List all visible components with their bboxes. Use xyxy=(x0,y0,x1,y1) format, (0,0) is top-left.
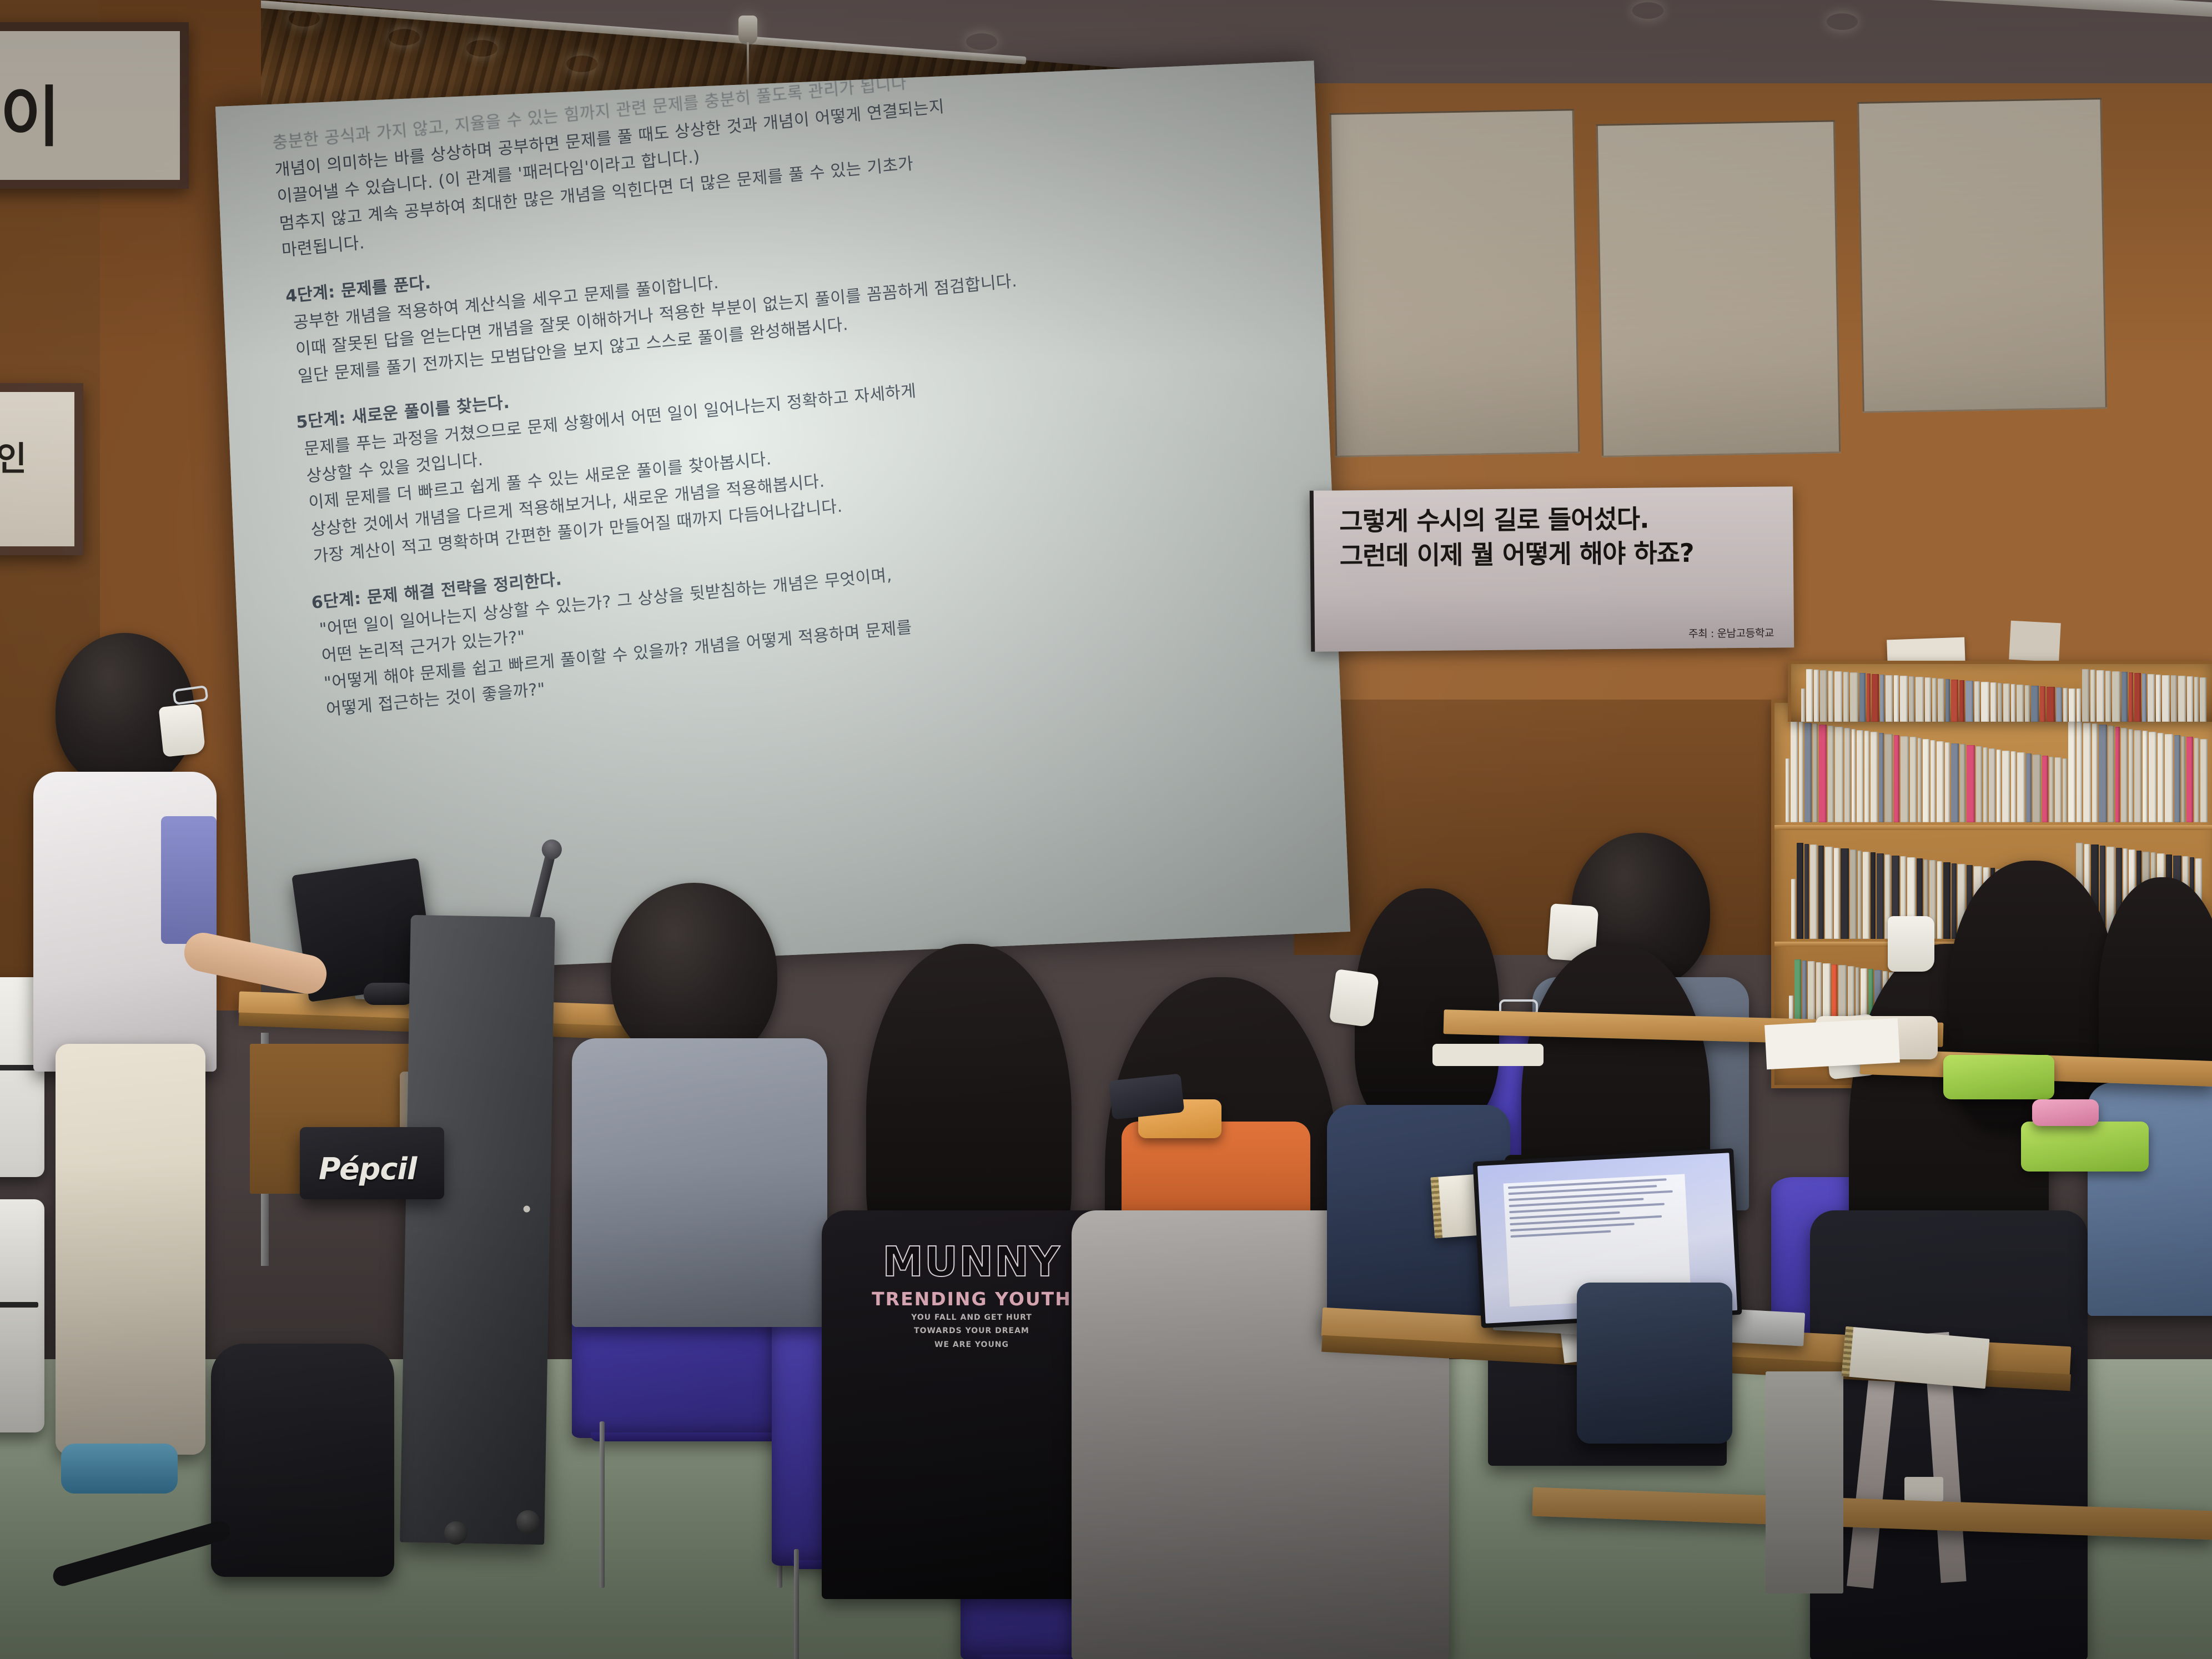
book-spine xyxy=(2092,723,2098,822)
book-spine xyxy=(1959,680,1964,722)
book-spine xyxy=(1850,849,1856,939)
downlight-icon xyxy=(966,33,997,50)
book-spine xyxy=(2186,737,2193,822)
book-spine xyxy=(2077,688,2081,722)
backpack xyxy=(211,1344,394,1577)
student-torso xyxy=(2088,1083,2212,1316)
equipment-bag: Pépcil xyxy=(300,1127,444,1199)
book-spine xyxy=(2025,685,2030,722)
projection-screen: 충분한 공식과 가지 않고, 지율을 수 있는 힘까지 관련 문제를 충분히 풀… xyxy=(215,61,1350,978)
book-spine xyxy=(1983,747,1987,822)
book-spine xyxy=(2090,670,2095,722)
book-spine xyxy=(2068,721,2075,822)
framed-calligraphy-small: 인 xyxy=(0,383,83,555)
book-spine xyxy=(1880,675,1884,722)
book-spine xyxy=(2002,751,2009,823)
slide-text-body: 충분한 공식과 가지 않고, 지율을 수 있는 힘까지 관련 문제를 충분히 풀… xyxy=(272,61,1324,669)
book-spine xyxy=(2108,726,2114,822)
book-spine xyxy=(1825,847,1833,939)
book-spine xyxy=(2099,725,2107,822)
book-spine xyxy=(2112,671,2120,722)
book-spine xyxy=(1867,673,1871,722)
book-spine xyxy=(1806,669,1813,722)
book-spine xyxy=(2031,686,2039,722)
downlight-icon xyxy=(389,29,420,46)
book-spine xyxy=(2200,739,2208,822)
book-spine xyxy=(1810,844,1817,939)
pencil-case-pink[interactable] xyxy=(2032,1099,2099,1126)
book-spine xyxy=(2049,757,2053,822)
book-spine xyxy=(2165,734,2173,822)
rolling-podium-panel xyxy=(400,915,555,1545)
paper-strip xyxy=(1432,1044,1544,1066)
book-spine xyxy=(1819,725,1827,822)
downlight-icon xyxy=(289,10,320,27)
student-face-mask xyxy=(1888,916,1934,972)
book-spine xyxy=(1885,734,1893,822)
banner-host-credit: 주최 : 운남고등학교 xyxy=(1688,625,1774,641)
book-spine xyxy=(1791,879,1796,939)
book-spine xyxy=(2121,728,2128,822)
book-spine xyxy=(2194,677,2198,722)
book-spine xyxy=(1872,674,1878,722)
book-spine xyxy=(1801,688,1805,722)
book-spine xyxy=(1918,738,1922,822)
book-spine xyxy=(2162,675,2170,722)
book-spine xyxy=(1976,746,1982,822)
book-spine xyxy=(1894,735,1899,822)
book-spine xyxy=(2003,683,2010,722)
calligraphy-character-small: 인 xyxy=(0,432,27,480)
book-spine xyxy=(1951,743,1959,822)
podium-caster xyxy=(516,1510,540,1534)
book-spine xyxy=(2134,730,2141,823)
book-spine xyxy=(1990,682,1997,722)
book-spine xyxy=(1901,736,1909,822)
desk-divider-panel xyxy=(1766,1371,1843,1593)
book-spine xyxy=(2187,676,2193,722)
wall-panel xyxy=(1330,109,1580,458)
book-row xyxy=(1786,720,2208,822)
book-spine xyxy=(1857,730,1863,823)
book-spine xyxy=(1997,750,2001,822)
book-spine xyxy=(2148,674,2155,722)
downlight-icon xyxy=(466,40,497,57)
book-spine xyxy=(1910,737,1916,822)
book-spine xyxy=(1864,731,1869,822)
book-spine xyxy=(1863,852,1869,939)
paper-sheet[interactable] xyxy=(1764,1018,1900,1069)
book-spine xyxy=(1791,721,1797,822)
book-spine xyxy=(1998,683,2002,722)
book-spine xyxy=(2040,686,2045,722)
book-spine xyxy=(1799,722,1803,822)
book-spine xyxy=(2011,751,2016,822)
equipment-bag-label: Pépcil xyxy=(319,1152,416,1187)
book-spine xyxy=(1900,676,1908,722)
pencil-case-green[interactable] xyxy=(1943,1055,2054,1099)
book-spine xyxy=(1814,670,1818,722)
book-spine xyxy=(1974,681,1980,722)
book-spine xyxy=(2121,672,2128,722)
book-spine xyxy=(1965,681,1973,722)
book-spine xyxy=(1937,861,1942,939)
book-spine xyxy=(2129,729,2133,822)
student-hair xyxy=(1355,888,1499,1127)
desk-bag xyxy=(1577,1283,1732,1444)
presenter-face-mask xyxy=(159,703,206,757)
book-spine xyxy=(2178,676,2186,722)
book-spine xyxy=(2011,684,2015,722)
book-spine xyxy=(1843,672,1849,722)
book-spine xyxy=(1841,848,1849,939)
book-spine xyxy=(1852,729,1856,822)
book-spine xyxy=(1844,728,1851,822)
book-spine xyxy=(1951,680,1958,722)
book-spine xyxy=(2047,687,2055,722)
shelf xyxy=(1774,825,2212,830)
book-spine xyxy=(2033,755,2041,822)
book-spine xyxy=(2171,675,2176,722)
book-spine xyxy=(1804,844,1809,939)
presenter-legs xyxy=(56,1044,205,1455)
classroom-scene: 이 인 충분한 공식과 가지 않고, 지율을 수 있는 힘까지 관련 문제를 충… xyxy=(0,0,2212,1659)
name-tag xyxy=(1904,1477,1943,1501)
book-spine xyxy=(1923,739,1929,822)
book-spine xyxy=(1871,732,1878,822)
book-spine xyxy=(2069,688,2075,722)
book-spine xyxy=(1804,723,1812,822)
book-spine xyxy=(2181,736,2185,822)
smartphone[interactable] xyxy=(1109,1073,1185,1119)
book-spine xyxy=(1931,740,1935,822)
book-spine xyxy=(2143,731,2148,822)
book-spine xyxy=(1909,676,1914,722)
book-spine xyxy=(2017,752,2025,822)
banner-line-2: 그런데 이제 뭘 어떻게 해야 하죠? xyxy=(1340,535,1775,573)
book-spine xyxy=(2156,675,2161,722)
book-spine xyxy=(2063,688,2067,722)
book-spine xyxy=(1938,678,1944,722)
book-spine xyxy=(1871,852,1875,939)
book-spine xyxy=(1943,862,1950,939)
downlight-icon xyxy=(566,56,597,72)
book-spine xyxy=(2055,757,2062,822)
book-spine xyxy=(2200,677,2206,722)
book-spine xyxy=(2082,669,2089,722)
student-face-mask xyxy=(1329,969,1380,1028)
book-spine xyxy=(2105,671,2111,722)
book-spine xyxy=(1820,670,1827,722)
book-spine xyxy=(1925,677,1931,722)
downlight-icon xyxy=(1827,13,1858,30)
wall-banner: 그렇게 수시의 길로 들어섰다. 그런데 이제 뭘 어떻게 해야 하죠? 주최 … xyxy=(1310,486,1794,652)
book-spine xyxy=(2097,670,2104,722)
book-spine xyxy=(1858,851,1862,939)
book-spine xyxy=(2056,687,2062,722)
book-spine xyxy=(2129,672,2133,722)
book-spine xyxy=(1818,846,1823,939)
book-spine xyxy=(2077,722,2082,822)
calligraphy-character: 이 xyxy=(0,64,61,159)
book-spine xyxy=(1879,733,1884,822)
book-spine xyxy=(1916,677,1924,722)
book-spine xyxy=(2083,723,2091,822)
book-spine xyxy=(1828,726,1833,822)
banner-line-1: 그렇게 수시의 길로 들어섰다. xyxy=(1339,501,1774,539)
book-spine xyxy=(1945,742,1950,822)
book-spine xyxy=(2158,733,2163,822)
student-torso xyxy=(572,1038,827,1327)
pencil-case-green[interactable] xyxy=(2021,1122,2149,1172)
book-spine xyxy=(1894,675,1899,722)
book-spine xyxy=(1952,863,1957,939)
book-spine xyxy=(2042,756,2048,822)
book-spine xyxy=(1834,848,1839,939)
air-purifier-lower xyxy=(0,1199,44,1432)
book-spine xyxy=(1786,758,1789,822)
book-spine xyxy=(2134,673,2141,722)
framed-calligraphy-large: 이 xyxy=(0,22,189,189)
book-spine xyxy=(2149,732,2156,822)
podium-caster xyxy=(444,1521,467,1545)
wall-notice xyxy=(2009,621,2061,662)
book-spine xyxy=(1937,741,1944,822)
book-spine xyxy=(2063,758,2067,822)
book-spine xyxy=(2142,673,2146,722)
book-spine xyxy=(1877,853,1884,939)
pendant-light-icon xyxy=(738,16,757,44)
book-spine xyxy=(1967,745,1975,822)
book-spine xyxy=(1932,678,1936,722)
presenter-shoe xyxy=(61,1444,178,1494)
book-spine xyxy=(1960,744,1965,822)
book-spine xyxy=(2115,727,2119,822)
computer-mouse xyxy=(364,983,414,1005)
book-spine xyxy=(1850,672,1858,722)
book-spine xyxy=(1886,675,1893,722)
presenter-shirt-graphic xyxy=(161,816,217,944)
book-spine xyxy=(1859,673,1866,722)
book-spine xyxy=(1981,682,1989,722)
wall-panel xyxy=(1857,98,2107,413)
book-spine xyxy=(2194,738,2199,822)
chair-leg xyxy=(794,1549,799,1659)
downlight-icon xyxy=(1632,2,1663,19)
book-spine xyxy=(1797,843,1803,939)
book-spine xyxy=(1835,727,1843,822)
book-spine xyxy=(2174,735,2180,822)
chair-leg xyxy=(600,1421,605,1588)
book-row-top xyxy=(1801,668,2206,722)
projected-slide: 충분한 공식과 가지 않고, 지율을 수 있는 힘까지 관련 문제를 충분히 풀… xyxy=(215,61,1350,978)
book-spine xyxy=(2017,685,2024,722)
book-spine xyxy=(1828,671,1833,722)
book-spine xyxy=(2026,753,2032,822)
book-spine xyxy=(1813,723,1818,822)
wall-panel xyxy=(1596,120,1841,457)
book-spine xyxy=(1834,671,1842,722)
book-spine xyxy=(1945,679,1950,722)
book-spine xyxy=(1989,748,1995,822)
bookcase-top-shelf xyxy=(1788,661,2212,722)
